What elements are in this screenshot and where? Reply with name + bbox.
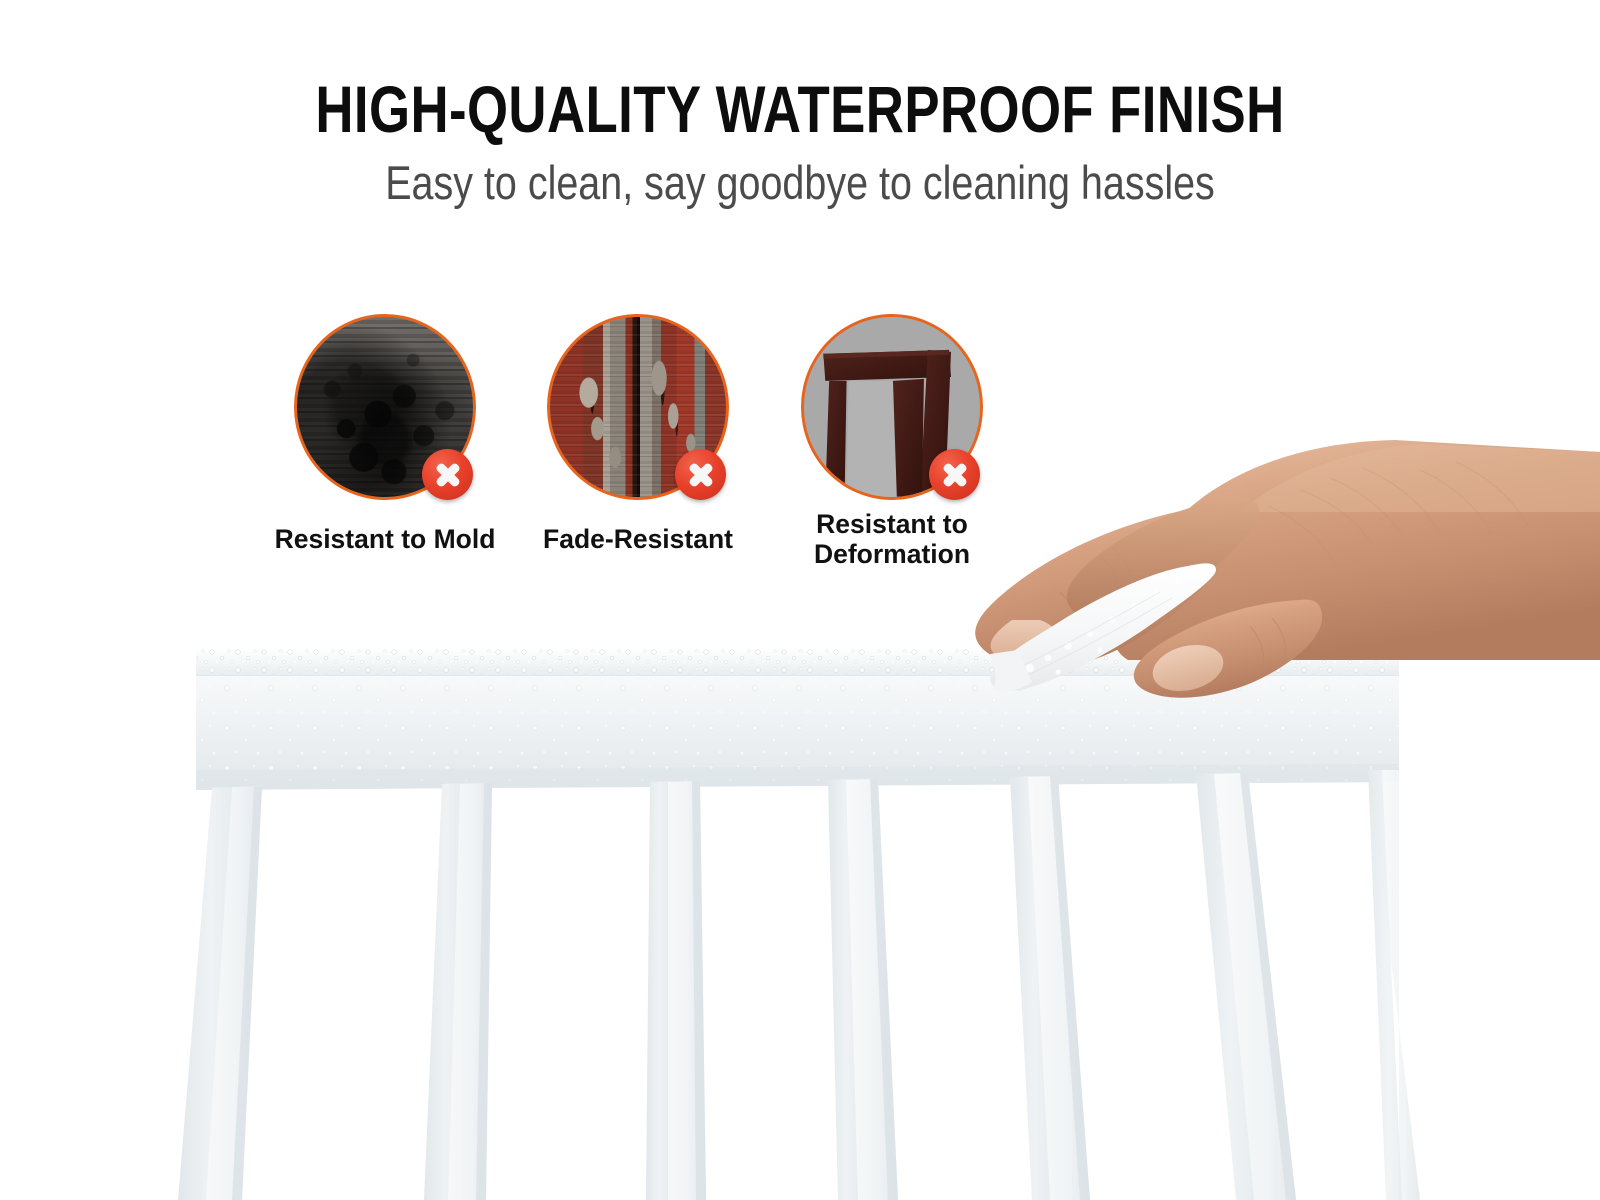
- hand-illustration: [0, 0, 1600, 1200]
- hand-wiping-scene: [0, 0, 1600, 1200]
- marketing-image-canvas: HIGH-QUALITY WATERPROOF FINISH Easy to c…: [0, 0, 1600, 1200]
